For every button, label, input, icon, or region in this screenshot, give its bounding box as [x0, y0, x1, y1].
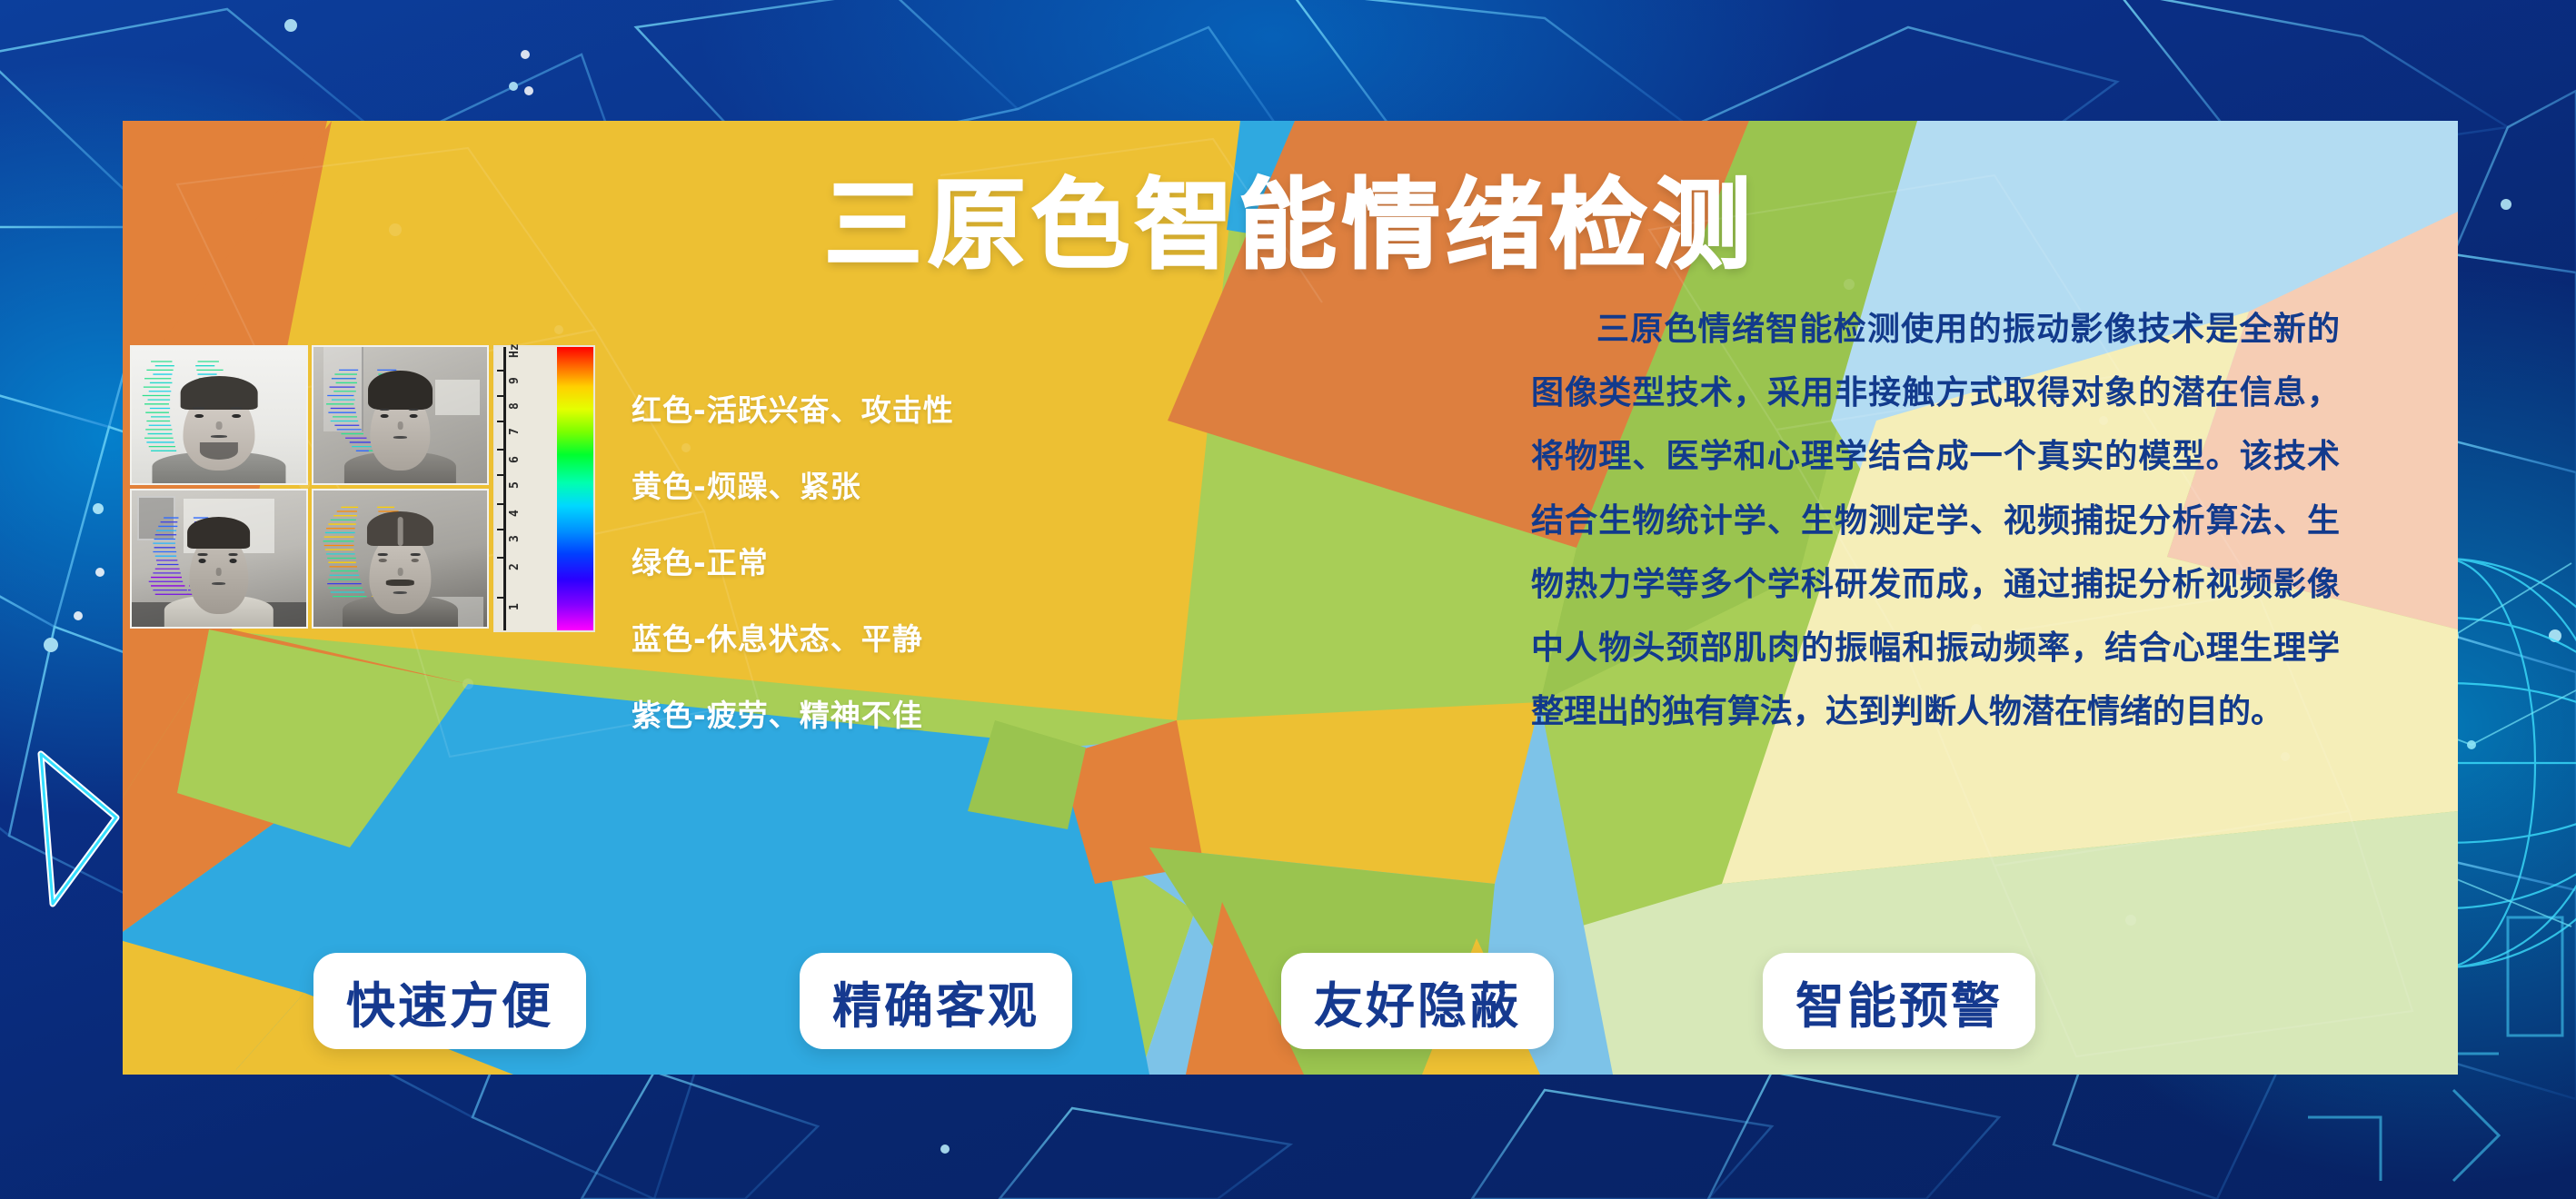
feature-pill-accurate-label: 精确客观: [832, 966, 1039, 1037]
feature-pill-alert[interactable]: 智能预警: [1763, 953, 2035, 1049]
feature-pill-alert-label: 智能预警: [1795, 966, 2003, 1037]
scale-tick-4: 4: [508, 510, 522, 517]
feature-pill-fast[interactable]: 快速方便: [313, 953, 586, 1049]
poster-card: 三原色智能情绪检测: [123, 121, 2458, 1075]
axis-line: [503, 347, 506, 630]
photo-subject-1[interactable]: [130, 345, 308, 485]
photo-subject-2[interactable]: [312, 345, 490, 485]
feature-pill-discreet-label: 友好隐蔽: [1314, 966, 1521, 1037]
feature-pill-fast-label: 快速方便: [346, 966, 553, 1037]
frequency-axis: Hz 9 8 7 6 5 4 3 2 1: [495, 347, 557, 630]
legend-item-purple: 紫色-疲劳、精神不佳: [632, 691, 1140, 735]
scale-tick-9: 9: [508, 377, 522, 384]
legend-item-yellow: 黄色-烦躁、紧张: [632, 462, 1140, 506]
scale-tick-2: 2: [508, 564, 522, 571]
scale-tick-6: 6: [508, 456, 522, 463]
scale-unit-label: Hz: [508, 344, 522, 359]
legend-item-blue: 蓝色-休息状态、平静: [632, 615, 1140, 659]
legend-item-red: 红色-活跃兴奋、攻击性: [632, 386, 1140, 430]
scale-tick-7: 7: [508, 428, 522, 435]
scale-tick-5: 5: [508, 481, 522, 489]
frequency-scale: Hz 9 8 7 6 5 4 3 2 1: [493, 345, 595, 632]
scale-tick-1: 1: [508, 603, 522, 610]
photo-subject-3[interactable]: [130, 489, 308, 629]
emotion-color-legend: 红色-活跃兴奋、攻击性 黄色-烦躁、紧张 绿色-正常 蓝色-休息状态、平静 紫色…: [632, 386, 1140, 768]
description-paragraph: 三原色情绪智能检测使用的振动影像技术是全新的图像类型技术，采用非接触方式取得对象…: [1531, 298, 2340, 744]
legend-item-green: 绿色-正常: [632, 539, 1140, 582]
vibraimage-photo-grid: [130, 345, 489, 629]
feature-pill-row: 快速方便 精确客观 友好隐蔽 智能预警: [123, 953, 2458, 1049]
photo-subject-4[interactable]: [312, 489, 490, 629]
poster-stage: 三原色智能情绪检测: [0, 0, 2576, 1199]
feature-pill-discreet[interactable]: 友好隐蔽: [1281, 953, 1554, 1049]
feature-pill-accurate[interactable]: 精确客观: [800, 953, 1072, 1049]
page-title: 三原色智能情绪检测: [123, 146, 2458, 288]
color-spectrum-bar: [557, 347, 593, 630]
scale-tick-8: 8: [508, 402, 522, 410]
scale-tick-3: 3: [508, 535, 522, 542]
